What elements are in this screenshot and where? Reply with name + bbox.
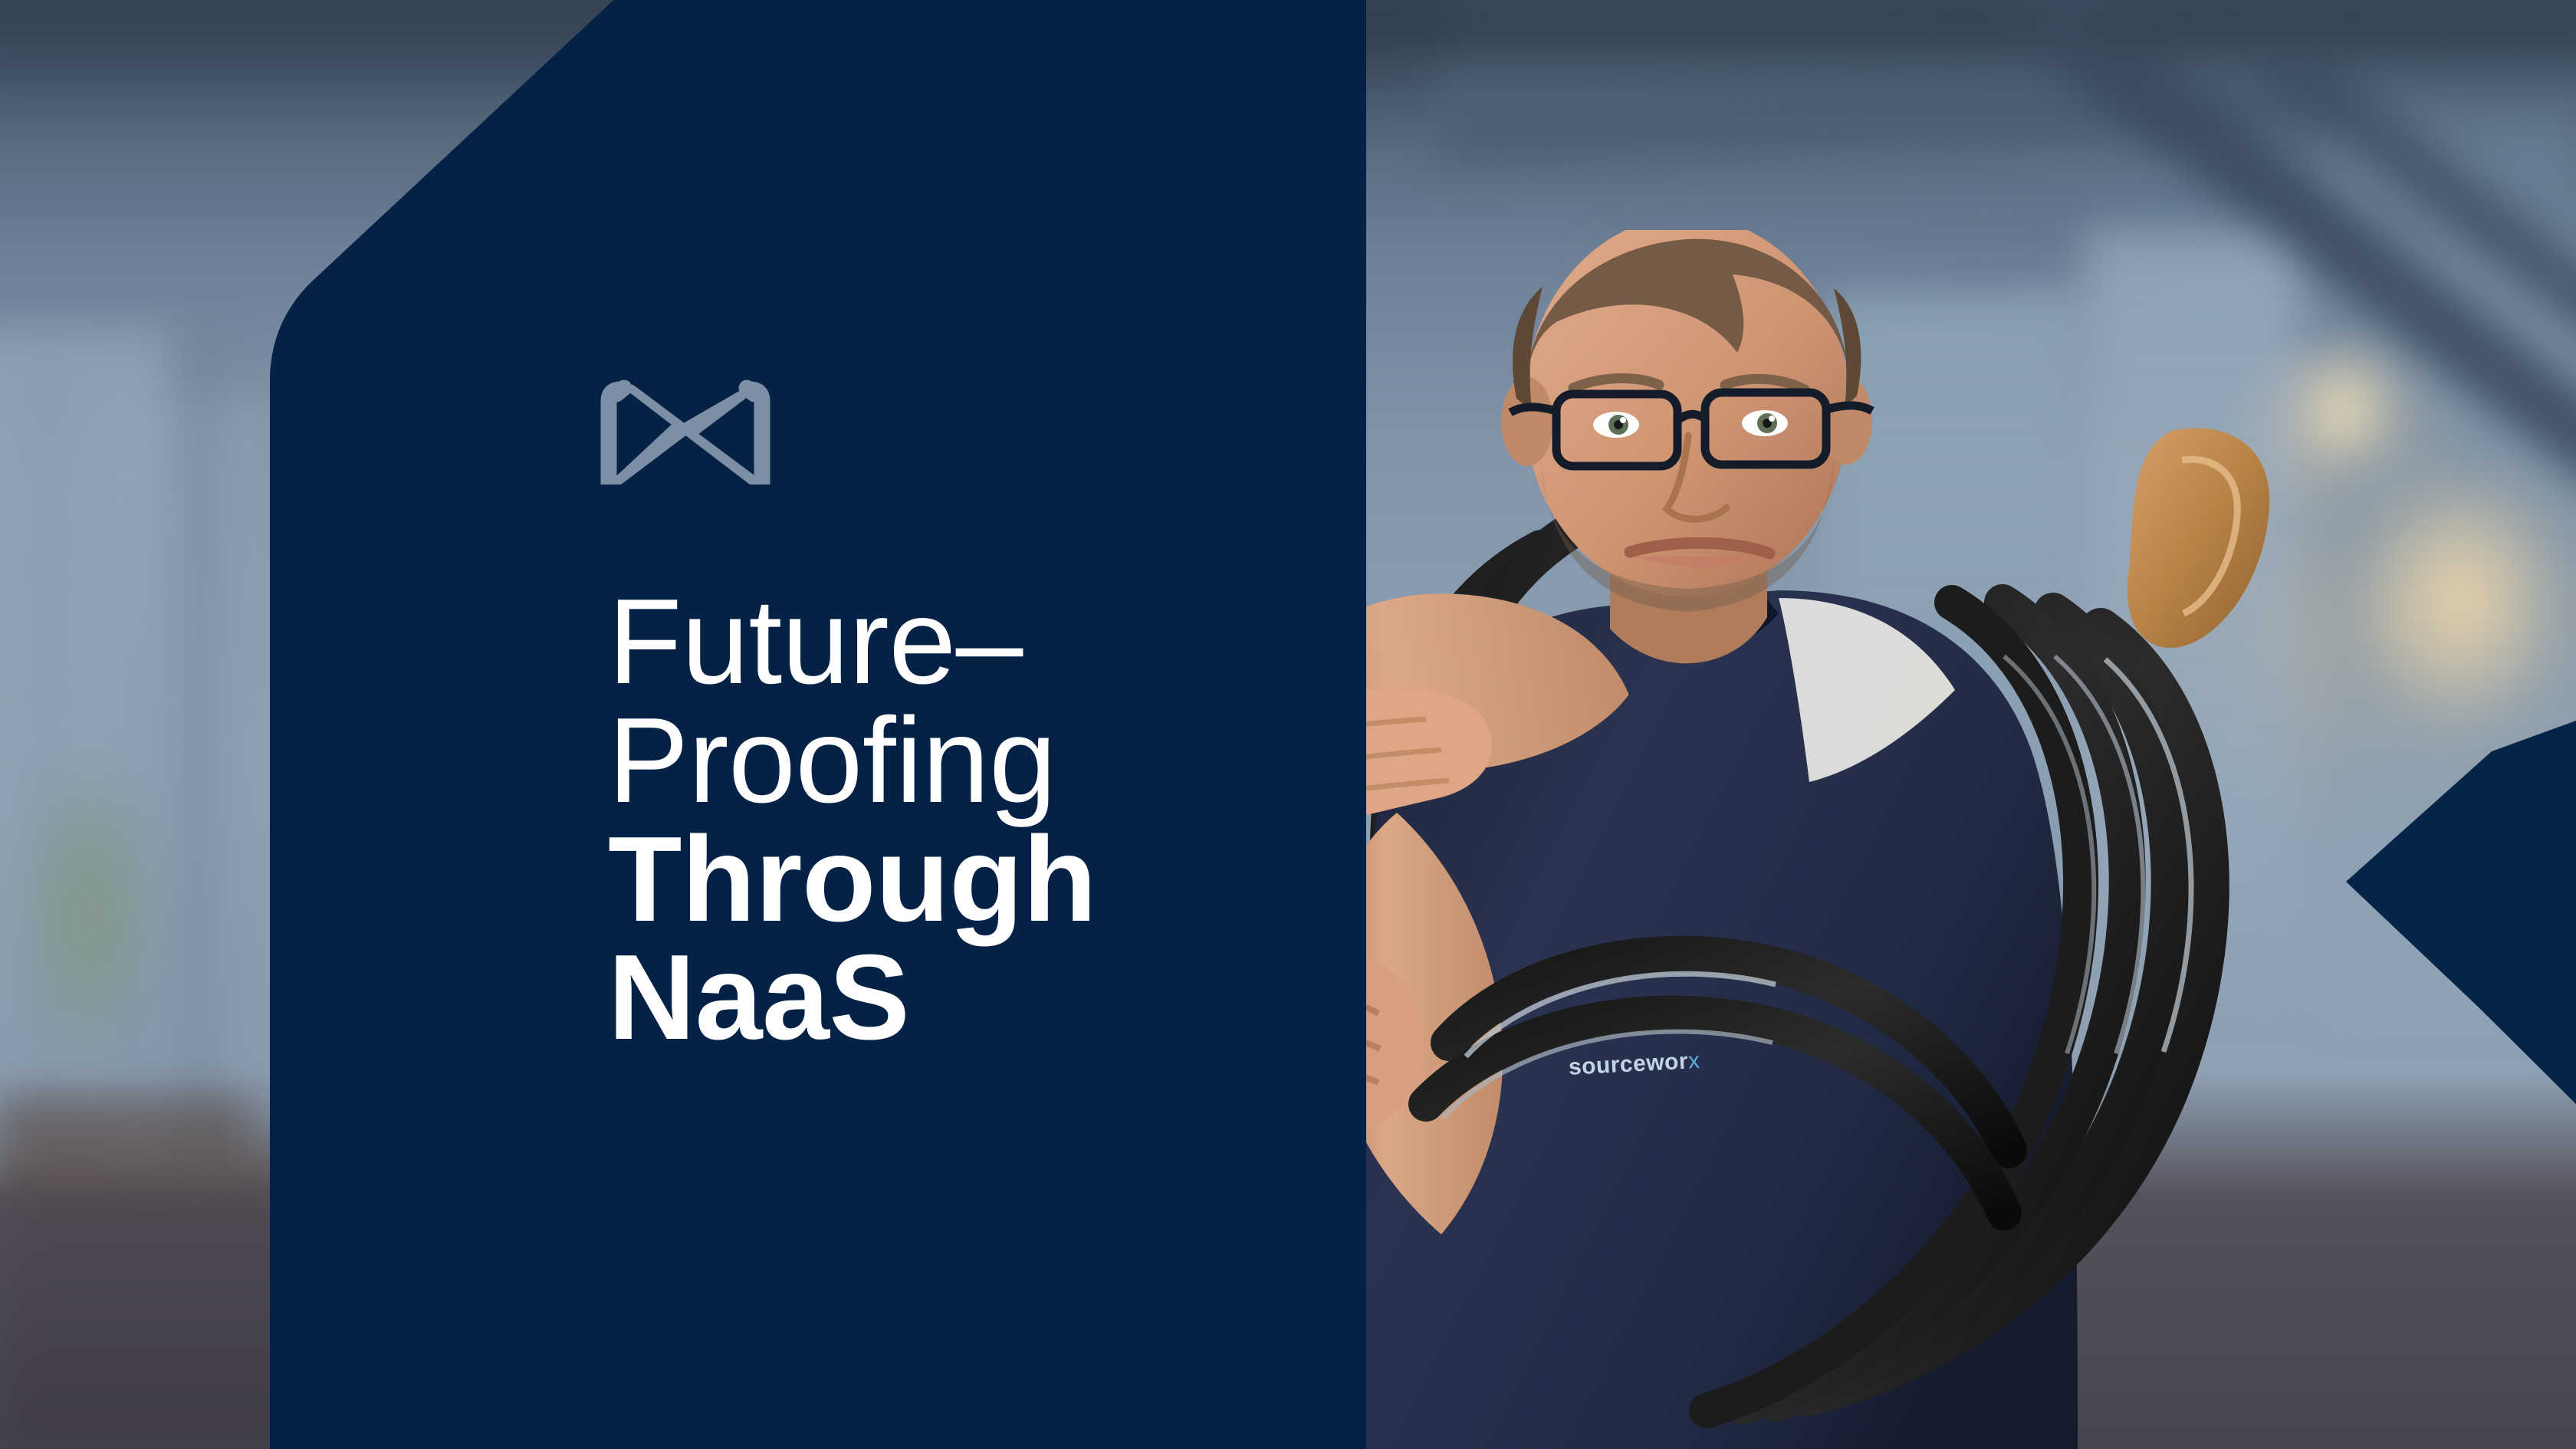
headline-line-3: Through bbox=[608, 820, 1344, 939]
window-mullion bbox=[188, 330, 208, 1188]
headline-line-1: Future– bbox=[608, 583, 1344, 701]
ceiling-beam-icon bbox=[1303, 0, 2576, 54]
headline-line-4: NaaS bbox=[608, 938, 1344, 1057]
packing-tape bbox=[2127, 429, 2269, 649]
shirt-logo-x-icon: x bbox=[1687, 1048, 1700, 1074]
left-pointing-chevron-icon bbox=[2269, 721, 2576, 1104]
page-title: Future– Proofing Through NaaS bbox=[608, 583, 1344, 1057]
plant-blob bbox=[15, 751, 161, 1073]
window-glow bbox=[2346, 460, 2576, 736]
headline-line-2: Proofing bbox=[608, 701, 1344, 820]
hero-banner: Future– Proofing Through NaaS sourceworx bbox=[0, 0, 2576, 1449]
shirt-logo-text: sourcewor bbox=[1568, 1049, 1689, 1080]
brand-logo-icon bbox=[596, 377, 774, 488]
window-glow bbox=[2285, 337, 2407, 475]
